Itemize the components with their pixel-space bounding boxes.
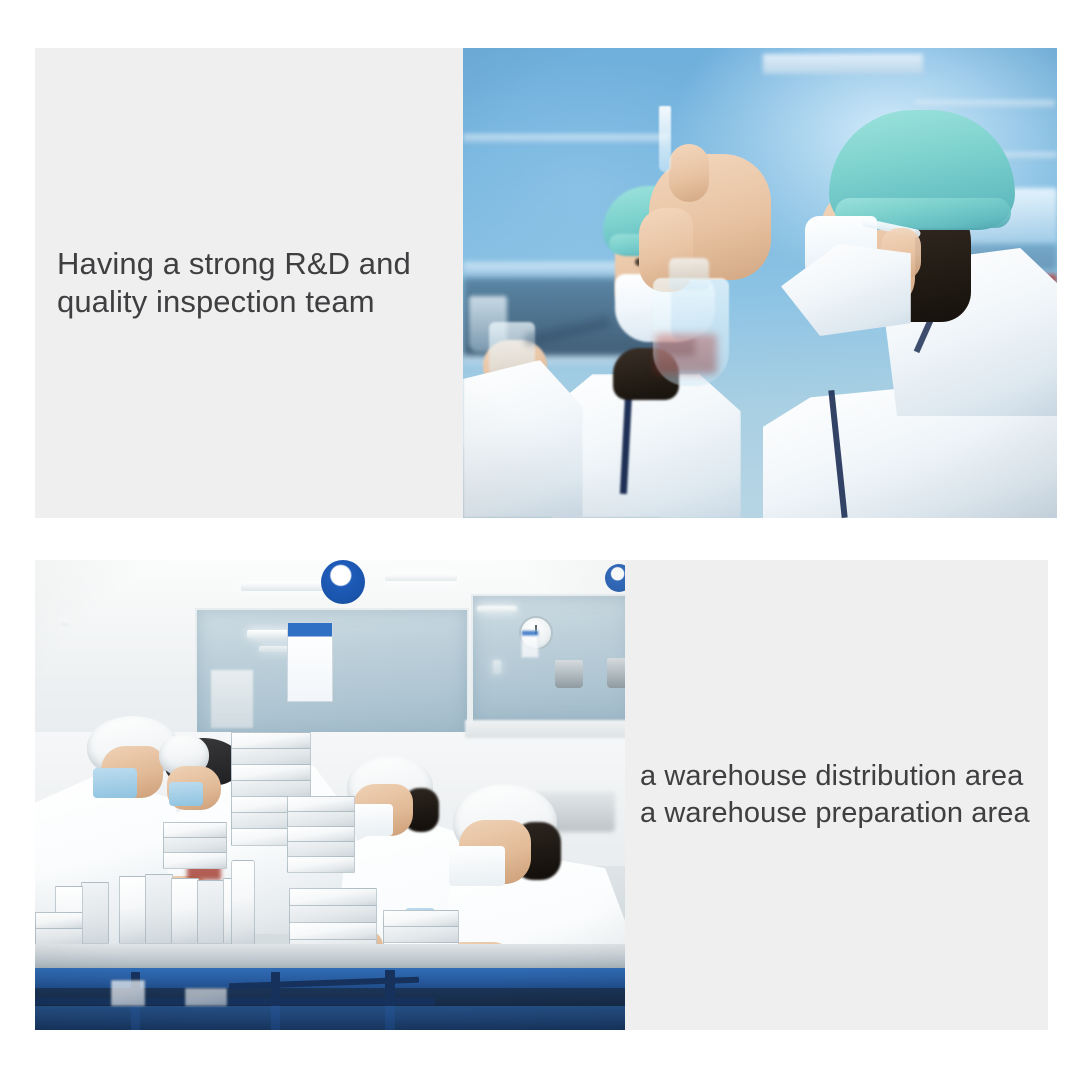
rd-quality-inspection-lab-photo (463, 48, 1057, 518)
row-2-caption-text: a warehouse distribution area a warehous… (640, 758, 1030, 832)
banner-page: Having a strong R&D and quality inspecti… (0, 0, 1080, 1080)
row-2: a warehouse distribution area a warehous… (35, 560, 1048, 1030)
row-1-caption-text: Having a strong R&D and quality inspecti… (57, 245, 411, 321)
row-1: Having a strong R&D and quality inspecti… (35, 48, 1057, 518)
warehouse-packing-area-photo (35, 560, 629, 1030)
row-2-caption-panel: a warehouse distribution area a warehous… (625, 560, 1048, 1030)
row-1-caption-panel: Having a strong R&D and quality inspecti… (35, 48, 465, 518)
